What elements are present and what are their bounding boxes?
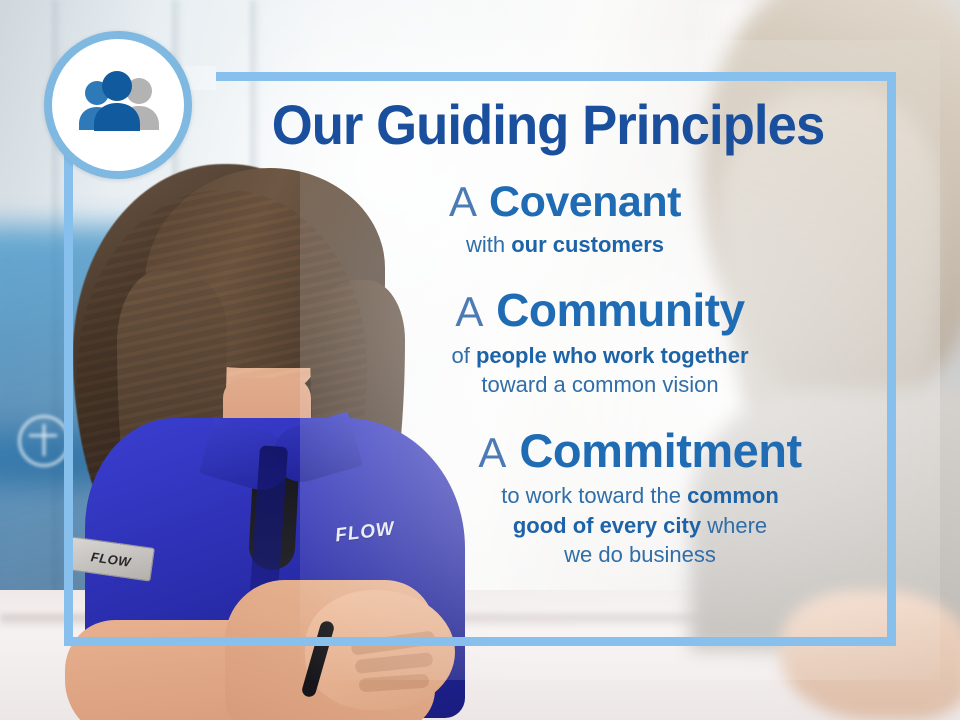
- principle-detail: of people who work together toward a com…: [310, 341, 890, 399]
- people-icon-badge: [44, 31, 192, 179]
- principle-detail-bold: common: [687, 483, 779, 508]
- principle-detail-prefix: of: [451, 343, 475, 368]
- principle-community: A Community of people who work together …: [250, 285, 890, 399]
- principle-commitment: A Commitment to work toward the common g…: [250, 425, 890, 570]
- principle-detail-prefix: to work toward the: [501, 483, 687, 508]
- principle-heading: A Covenant: [250, 178, 880, 226]
- principle-detail-line2: good of every city where: [390, 511, 890, 540]
- flow-badge-text: FLOW: [90, 549, 132, 569]
- principle-detail-line2: toward a common vision: [310, 370, 890, 399]
- principle-detail-bold: people who work together: [476, 343, 749, 368]
- principle-article: A: [478, 429, 506, 476]
- principle-detail-bold2: good of every city: [513, 513, 701, 538]
- principle-heading: A Commitment: [390, 425, 890, 478]
- principle-detail-line1: to work toward the common: [390, 481, 890, 510]
- people-group-icon: [72, 69, 164, 141]
- guiding-principles-graphic: FLOW FLOW Our Gu: [0, 0, 960, 720]
- principle-detail: with our customers: [250, 230, 880, 259]
- principle-detail-prefix: with: [466, 232, 511, 257]
- page-title: Our Guiding Principles: [238, 96, 858, 153]
- principle-article: A: [455, 288, 483, 335]
- principle-detail: to work toward the common good of every …: [390, 481, 890, 569]
- principle-detail-line3: we do business: [390, 540, 890, 569]
- principle-detail-bold: our customers: [511, 232, 664, 257]
- principle-article: A: [449, 178, 477, 225]
- principle-keyword: Community: [496, 284, 745, 336]
- principles-list: A Covenant with our customers A Communit…: [250, 178, 890, 580]
- principle-keyword: Commitment: [519, 424, 801, 477]
- principle-covenant: A Covenant with our customers: [250, 178, 890, 259]
- principle-heading: A Community: [310, 285, 890, 337]
- principle-detail-mid: where: [701, 513, 767, 538]
- principle-keyword: Covenant: [489, 178, 681, 226]
